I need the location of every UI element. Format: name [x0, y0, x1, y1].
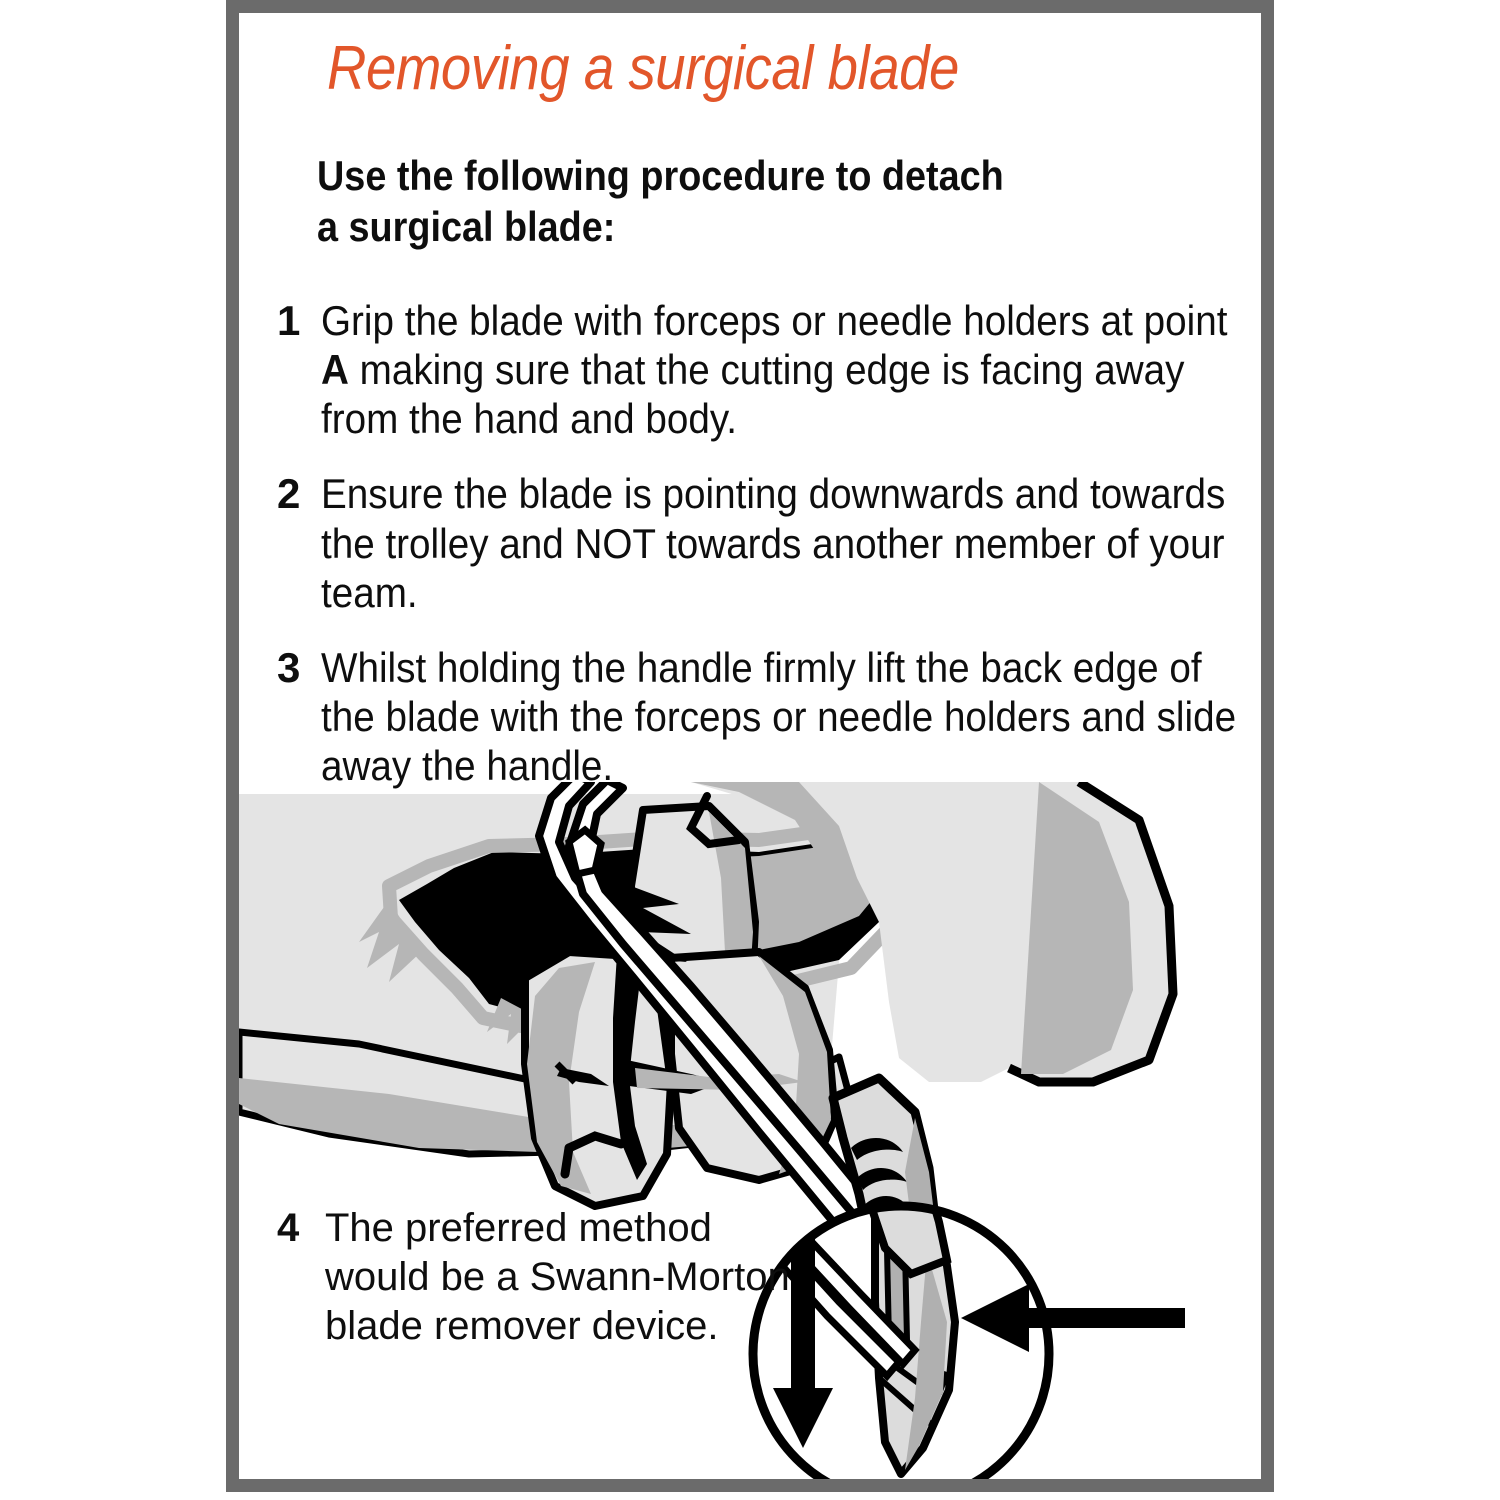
step-item-3: 3 Whilst holding the handle firmly lift …: [269, 643, 1259, 790]
procedure-illustration: [239, 782, 1261, 1479]
step-text-3: Whilst holding the handle firmly lift th…: [321, 643, 1250, 790]
step-number-4: 4: [277, 1204, 299, 1253]
card-content: Removing a surgical blade Use the follow…: [239, 13, 1261, 1479]
poster-root: Removing a surgical blade Use the follow…: [0, 0, 1500, 1500]
card-top-border: [239, 0, 1261, 13]
step-1-emphasis: A: [321, 346, 349, 393]
step-number-2: 2: [277, 469, 315, 518]
step-item-2: 2 Ensure the blade is pointing downwards…: [269, 469, 1259, 616]
fingernail-crease-side: [565, 1148, 569, 1174]
steps-list: 1 Grip the blade with forceps or needle …: [269, 296, 1259, 816]
step-item-4: 4 The preferred method would be a Swann-…: [269, 1204, 829, 1350]
forceps-hinge: [569, 830, 601, 874]
step-number-3: 3: [277, 643, 315, 692]
step-1-text-after: making sure that the cutting edge is fac…: [321, 346, 1184, 442]
intro-line1-after: a: [317, 203, 338, 250]
intro-text: Use the following procedure to detach a …: [317, 150, 1028, 252]
instruction-card: Removing a surgical blade Use the follow…: [226, 0, 1274, 1492]
intro-line1-before: Use the following procedure to: [317, 152, 882, 199]
point-a-arrow-shaft: [1025, 1308, 1185, 1328]
page-title: Removing a surgical blade: [327, 36, 959, 101]
intro-line2: surgical blade:: [349, 203, 616, 250]
step-text-4: The preferred method would be a Swann-Mo…: [325, 1204, 825, 1350]
step-item-1: 1 Grip the blade with forceps or needle …: [269, 296, 1259, 443]
intro-emphasis-detach: detach: [882, 152, 1004, 199]
step-text-2: Ensure the blade is pointing downwards a…: [321, 469, 1250, 616]
step-3-text-before: Whilst holding the handle firmly lift th…: [321, 644, 1236, 789]
step-text-1: Grip the blade with forceps or needle ho…: [321, 296, 1250, 443]
step-number-1: 1: [277, 296, 315, 345]
step-1-text-before: Grip the blade with forceps or needle ho…: [321, 297, 1227, 344]
step-2-text-before: Ensure the blade is pointing downwards a…: [321, 470, 1225, 615]
